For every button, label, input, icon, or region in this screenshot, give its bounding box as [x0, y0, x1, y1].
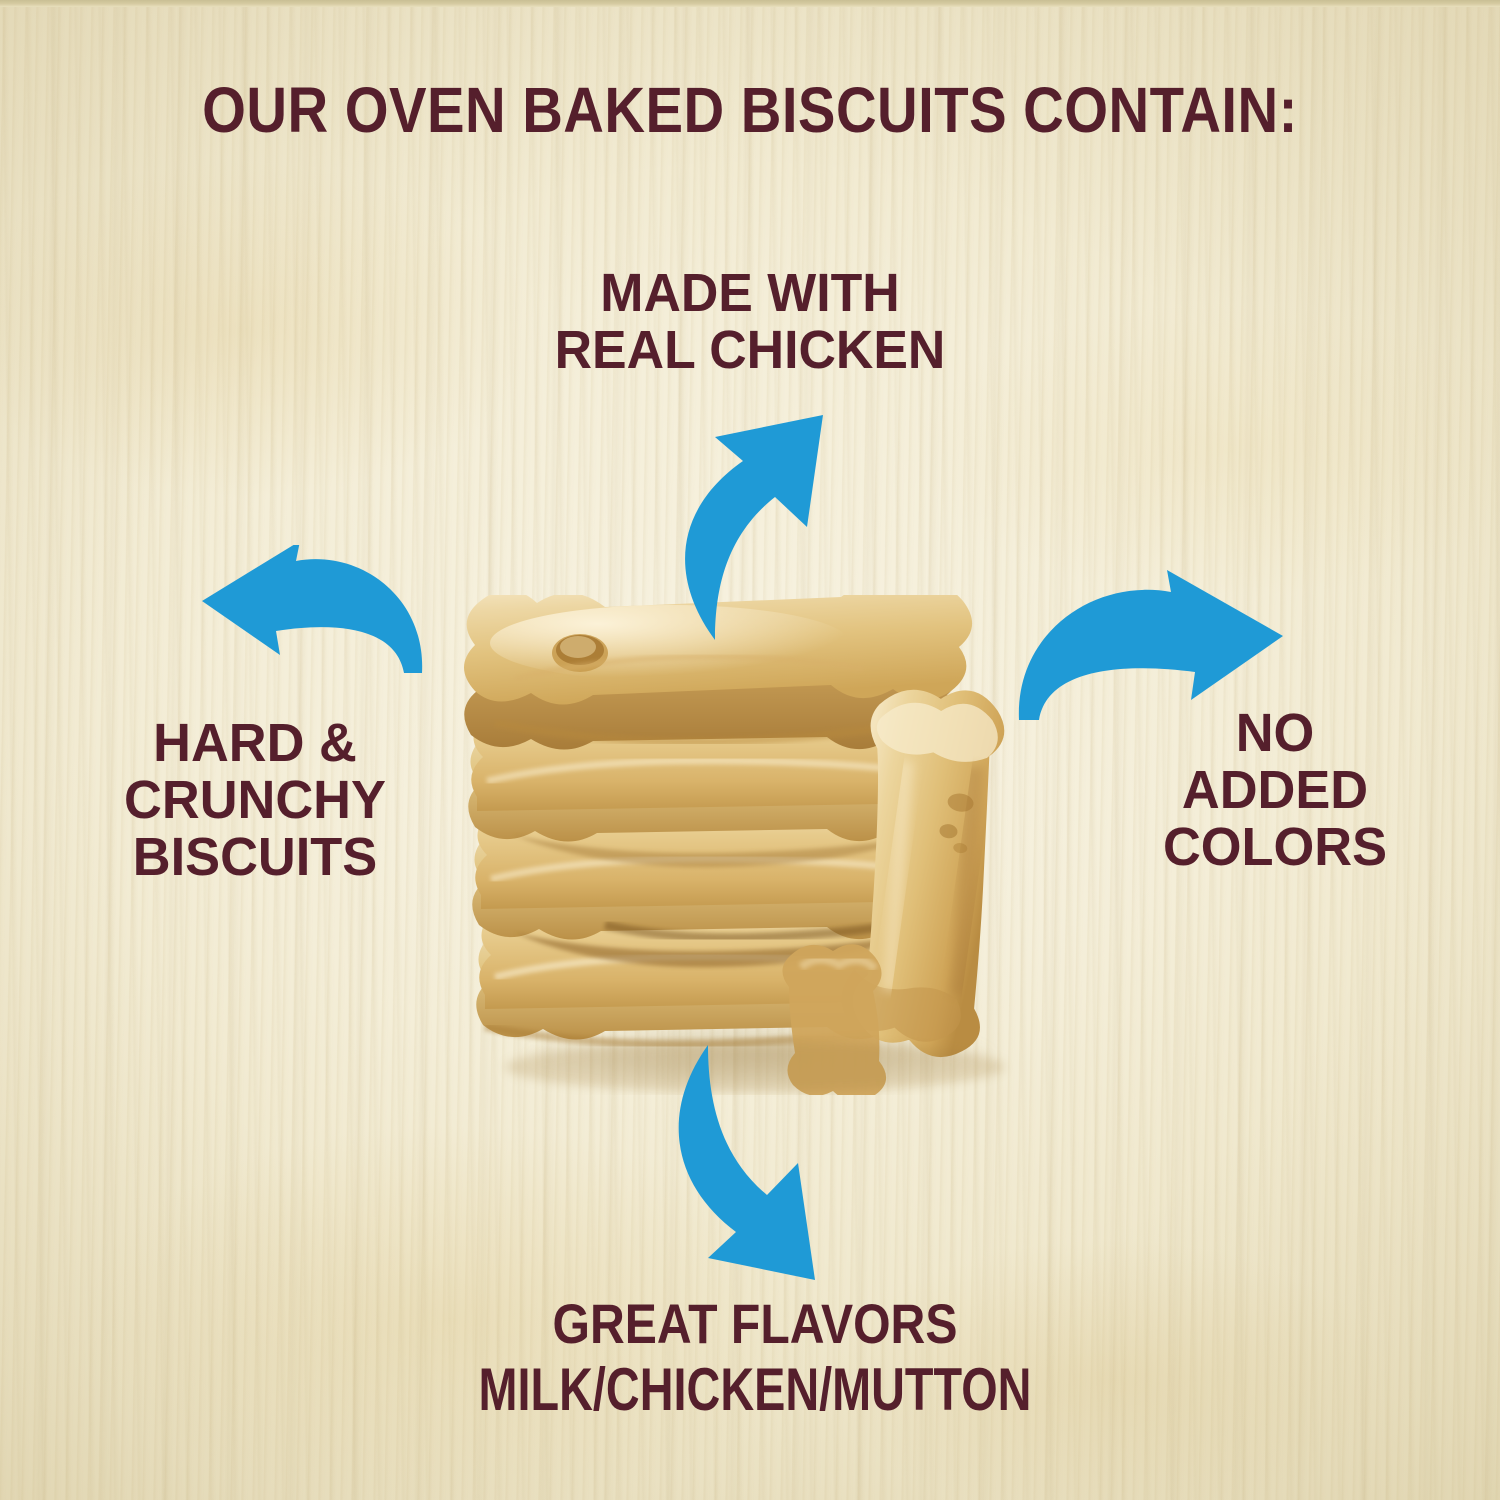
callout-crunchy-line3: BISCUITS: [27, 829, 483, 886]
callout-flavors-line2: MILK/CHICKEN/MUTTON: [283, 1356, 1227, 1423]
arrow-up-icon: [655, 415, 860, 640]
arrow-down-icon: [650, 1045, 850, 1280]
callout-made-with-real-chicken: MADE WITH REAL CHICKEN: [414, 265, 1086, 379]
arrow-right-icon: [1010, 570, 1285, 720]
arrow-left-icon: [200, 545, 430, 675]
product-photo-biscuit-stack: [455, 595, 1055, 1095]
callout-hard-and-crunchy-biscuits: HARD & CRUNCHY BISCUITS: [27, 715, 483, 887]
callout-colors-line3: COLORS: [1062, 819, 1489, 876]
callout-colors-line2: ADDED: [1062, 762, 1489, 819]
callout-chicken-line2: REAL CHICKEN: [414, 322, 1086, 379]
callout-great-flavors: GREAT FLAVORS MILK/CHICKEN/MUTTON: [150, 1293, 1360, 1423]
callout-no-added-colors: NO ADDED COLORS: [1062, 705, 1489, 877]
poster-canvas: OUR OVEN BAKED BISCUITS CONTAIN:: [0, 0, 1500, 1500]
background-top-strip: [0, 0, 1500, 7]
page-title: OUR OVEN BAKED BISCUITS CONTAIN:: [90, 78, 1410, 142]
callout-flavors-line1: GREAT FLAVORS: [235, 1293, 1276, 1356]
callout-chicken-line1: MADE WITH: [414, 265, 1086, 322]
callout-colors-line1: NO: [1062, 705, 1489, 762]
callout-crunchy-line2: CRUNCHY: [27, 772, 483, 829]
callout-crunchy-line1: HARD &: [27, 715, 483, 772]
